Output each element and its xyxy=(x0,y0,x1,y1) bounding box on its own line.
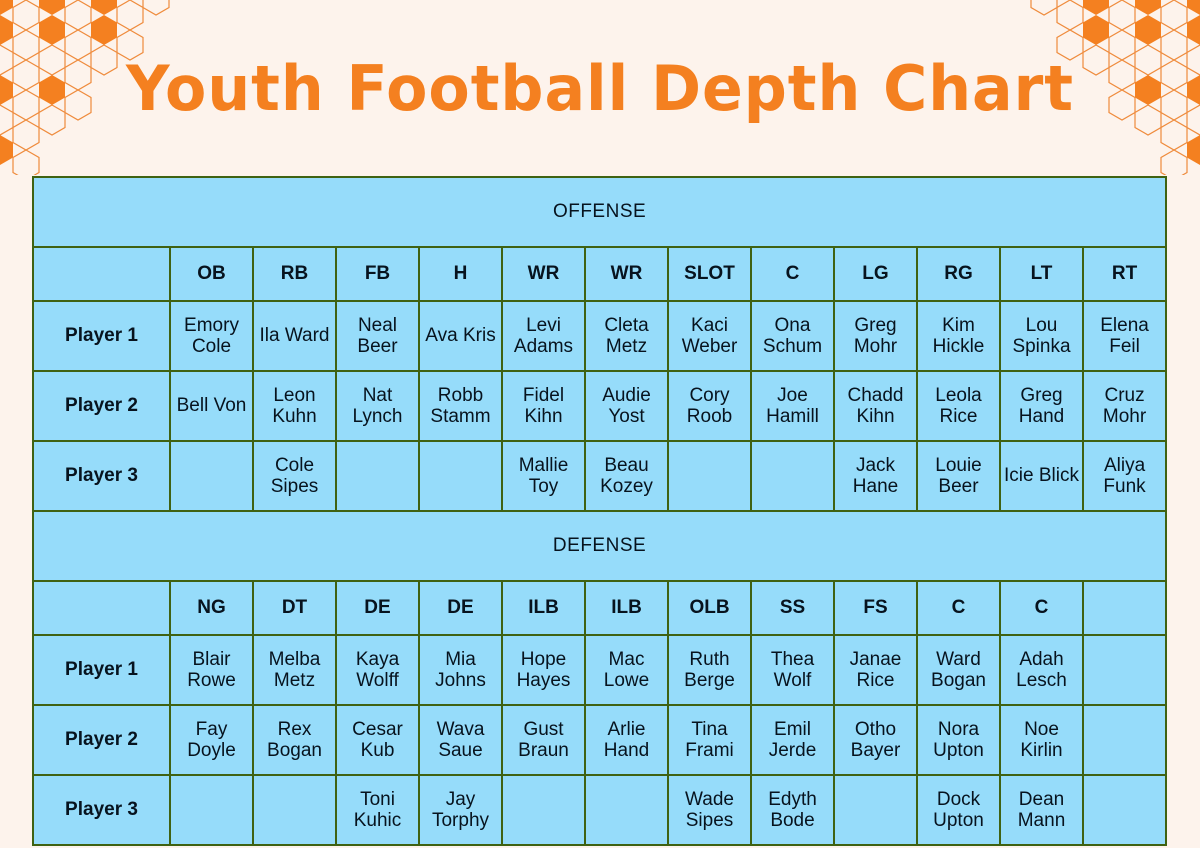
offense-player-cell-r1-c1[interactable]: Emory Cole xyxy=(170,301,253,371)
defense-empty-cell-r3-c2[interactable] xyxy=(253,775,336,845)
offense-player-cell-r3-c9[interactable]: Jack Hane xyxy=(834,441,917,511)
offense-position-header-lt-10: LT xyxy=(1000,247,1083,301)
offense-player-row: Player 1Emory ColeIla WardNeal BeerAva K… xyxy=(33,301,1166,371)
defense-player-cell-r1-c5[interactable]: Hope Hayes xyxy=(502,635,585,705)
offense-banner-row: OFFENSE xyxy=(33,177,1166,247)
defense-empty-cell-r3-c5[interactable] xyxy=(502,775,585,845)
defense-position-header-fs-8: FS xyxy=(834,581,917,635)
offense-player-cell-r1-c7[interactable]: Kaci Weber xyxy=(668,301,751,371)
defense-player-cell-r1-c8[interactable]: Thea Wolf xyxy=(751,635,834,705)
depth-chart-container: OFFENSEOBRBFBHWRWRSLOTCLGRGLTRTPlayer 1E… xyxy=(32,176,1164,846)
offense-row-label-1: Player 1 xyxy=(33,301,170,371)
offense-position-header-wr-4: WR xyxy=(502,247,585,301)
defense-player-cell-r2-c9[interactable]: Otho Bayer xyxy=(834,705,917,775)
offense-player-cell-r3-c10[interactable]: Louie Beer xyxy=(917,441,1000,511)
offense-player-cell-r1-c12[interactable]: Elena Feil xyxy=(1083,301,1166,371)
offense-player-cell-r2-c3[interactable]: Nat Lynch xyxy=(336,371,419,441)
offense-player-cell-r1-c10[interactable]: Kim Hickle xyxy=(917,301,1000,371)
offense-position-header-wr-5: WR xyxy=(585,247,668,301)
defense-empty-cell-r1-c12[interactable] xyxy=(1083,635,1166,705)
defense-row-label-3: Player 3 xyxy=(33,775,170,845)
defense-player-cell-r2-c5[interactable]: Gust Braun xyxy=(502,705,585,775)
offense-player-cell-r2-c9[interactable]: Chadd Kihn xyxy=(834,371,917,441)
defense-header-corner xyxy=(33,581,170,635)
defense-position-header-de-3: DE xyxy=(419,581,502,635)
offense-position-header-ob-0: OB xyxy=(170,247,253,301)
offense-player-cell-r2-c10[interactable]: Leola Rice xyxy=(917,371,1000,441)
defense-player-cell-r2-c11[interactable]: Noe Kirlin xyxy=(1000,705,1083,775)
defense-player-cell-r3-c3[interactable]: Toni Kuhic xyxy=(336,775,419,845)
offense-empty-cell-r3-c3[interactable] xyxy=(336,441,419,511)
defense-player-cell-r1-c7[interactable]: Ruth Berge xyxy=(668,635,751,705)
defense-position-header-dt-1: DT xyxy=(253,581,336,635)
defense-position-header-ng-0: NG xyxy=(170,581,253,635)
defense-player-cell-r1-c9[interactable]: Janae Rice xyxy=(834,635,917,705)
offense-empty-cell-r3-c4[interactable] xyxy=(419,441,502,511)
depth-chart-table: OFFENSEOBRBFBHWRWRSLOTCLGRGLTRTPlayer 1E… xyxy=(32,176,1167,846)
defense-position-header-c-10: C xyxy=(1000,581,1083,635)
defense-player-row: Player 1Blair RoweMelba MetzKaya WolffMi… xyxy=(33,635,1166,705)
offense-player-cell-r2-c1[interactable]: Bell Von xyxy=(170,371,253,441)
defense-player-cell-r2-c3[interactable]: Cesar Kub xyxy=(336,705,419,775)
defense-position-header-ss-7: SS xyxy=(751,581,834,635)
offense-player-cell-r3-c12[interactable]: Aliya Funk xyxy=(1083,441,1166,511)
offense-player-cell-r2-c2[interactable]: Leon Kuhn xyxy=(253,371,336,441)
offense-position-header-rg-9: RG xyxy=(917,247,1000,301)
defense-player-cell-r3-c10[interactable]: Dock Upton xyxy=(917,775,1000,845)
offense-position-header-row: OBRBFBHWRWRSLOTCLGRGLTRT xyxy=(33,247,1166,301)
defense-player-row: Player 3Toni KuhicJay TorphyWade SipesEd… xyxy=(33,775,1166,845)
defense-player-cell-r3-c8[interactable]: Edyth Bode xyxy=(751,775,834,845)
offense-player-cell-r2-c11[interactable]: Greg Hand xyxy=(1000,371,1083,441)
defense-player-cell-r1-c10[interactable]: Ward Bogan xyxy=(917,635,1000,705)
defense-empty-cell-r2-c12[interactable] xyxy=(1083,705,1166,775)
offense-position-header-fb-2: FB xyxy=(336,247,419,301)
defense-position-header-ilb-4: ILB xyxy=(502,581,585,635)
depth-chart-body: OFFENSEOBRBFBHWRWRSLOTCLGRGLTRTPlayer 1E… xyxy=(33,177,1166,845)
offense-player-cell-r2-c4[interactable]: Robb Stamm xyxy=(419,371,502,441)
defense-position-header-c-9: C xyxy=(917,581,1000,635)
offense-player-cell-r3-c6[interactable]: Beau Kozey xyxy=(585,441,668,511)
defense-banner-row: DEFENSE xyxy=(33,511,1166,581)
offense-empty-cell-r3-c7[interactable] xyxy=(668,441,751,511)
offense-position-header-h-3: H xyxy=(419,247,502,301)
defense-position-header-row: NGDTDEDEILBILBOLBSSFSCC xyxy=(33,581,1166,635)
defense-player-cell-r1-c2[interactable]: Melba Metz xyxy=(253,635,336,705)
offense-position-header-c-7: C xyxy=(751,247,834,301)
defense-player-cell-r2-c4[interactable]: Wava Saue xyxy=(419,705,502,775)
offense-header-corner xyxy=(33,247,170,301)
offense-player-cell-r1-c8[interactable]: Ona Schum xyxy=(751,301,834,371)
defense-player-cell-r2-c7[interactable]: Tina Frami xyxy=(668,705,751,775)
defense-player-cell-r1-c3[interactable]: Kaya Wolff xyxy=(336,635,419,705)
defense-empty-cell-r3-c12[interactable] xyxy=(1083,775,1166,845)
defense-player-cell-r3-c7[interactable]: Wade Sipes xyxy=(668,775,751,845)
offense-banner: OFFENSE xyxy=(33,177,1166,247)
defense-player-cell-r2-c1[interactable]: Fay Doyle xyxy=(170,705,253,775)
defense-player-cell-r1-c11[interactable]: Adah Lesch xyxy=(1000,635,1083,705)
offense-player-cell-r1-c11[interactable]: Lou Spinka xyxy=(1000,301,1083,371)
defense-banner: DEFENSE xyxy=(33,511,1166,581)
defense-position-header-empty-11 xyxy=(1083,581,1166,635)
offense-player-cell-r1-c9[interactable]: Greg Mohr xyxy=(834,301,917,371)
page-title: Youth Football Depth Chart xyxy=(18,52,1182,125)
offense-position-header-rb-1: RB xyxy=(253,247,336,301)
offense-row-label-3: Player 3 xyxy=(33,441,170,511)
defense-empty-cell-r3-c1[interactable] xyxy=(170,775,253,845)
defense-empty-cell-r3-c6[interactable] xyxy=(585,775,668,845)
defense-row-label-1: Player 1 xyxy=(33,635,170,705)
defense-player-row: Player 2Fay DoyleRex BoganCesar KubWava … xyxy=(33,705,1166,775)
defense-player-cell-r2-c10[interactable]: Nora Upton xyxy=(917,705,1000,775)
defense-player-cell-r3-c11[interactable]: Dean Mann xyxy=(1000,775,1083,845)
offense-player-cell-r1-c3[interactable]: Neal Beer xyxy=(336,301,419,371)
offense-empty-cell-r3-c1[interactable] xyxy=(170,441,253,511)
defense-player-cell-r3-c4[interactable]: Jay Torphy xyxy=(419,775,502,845)
defense-position-header-de-2: DE xyxy=(336,581,419,635)
defense-position-header-ilb-5: ILB xyxy=(585,581,668,635)
offense-player-cell-r2-c7[interactable]: Cory Roob xyxy=(668,371,751,441)
offense-player-row: Player 2Bell VonLeon KuhnNat LynchRobb S… xyxy=(33,371,1166,441)
offense-player-cell-r3-c11[interactable]: Icie Blick xyxy=(1000,441,1083,511)
offense-player-cell-r1-c2[interactable]: Ila Ward xyxy=(253,301,336,371)
defense-player-cell-r1-c6[interactable]: Mac Lowe xyxy=(585,635,668,705)
offense-player-cell-r2-c8[interactable]: Joe Hamill xyxy=(751,371,834,441)
offense-player-row: Player 3Cole SipesMallie ToyBeau KozeyJa… xyxy=(33,441,1166,511)
defense-position-header-olb-6: OLB xyxy=(668,581,751,635)
offense-position-header-lg-8: LG xyxy=(834,247,917,301)
offense-empty-cell-r3-c8[interactable] xyxy=(751,441,834,511)
offense-player-cell-r3-c2[interactable]: Cole Sipes xyxy=(253,441,336,511)
defense-player-cell-r2-c2[interactable]: Rex Bogan xyxy=(253,705,336,775)
defense-player-cell-r2-c6[interactable]: Arlie Hand xyxy=(585,705,668,775)
defense-player-cell-r1-c1[interactable]: Blair Rowe xyxy=(170,635,253,705)
page-title-container: Youth Football Depth Chart xyxy=(0,52,1200,125)
offense-player-cell-r2-c12[interactable]: Cruz Mohr xyxy=(1083,371,1166,441)
defense-empty-cell-r3-c9[interactable] xyxy=(834,775,917,845)
defense-player-cell-r1-c4[interactable]: Mia Johns xyxy=(419,635,502,705)
offense-player-cell-r1-c5[interactable]: Levi Adams xyxy=(502,301,585,371)
offense-player-cell-r1-c6[interactable]: Cleta Metz xyxy=(585,301,668,371)
offense-player-cell-r1-c4[interactable]: Ava Kris xyxy=(419,301,502,371)
offense-player-cell-r3-c5[interactable]: Mallie Toy xyxy=(502,441,585,511)
offense-position-header-rt-11: RT xyxy=(1083,247,1166,301)
offense-row-label-2: Player 2 xyxy=(33,371,170,441)
defense-row-label-2: Player 2 xyxy=(33,705,170,775)
offense-player-cell-r2-c5[interactable]: Fidel Kihn xyxy=(502,371,585,441)
defense-player-cell-r2-c8[interactable]: Emil Jerde xyxy=(751,705,834,775)
offense-position-header-slot-6: SLOT xyxy=(668,247,751,301)
offense-player-cell-r2-c6[interactable]: Audie Yost xyxy=(585,371,668,441)
